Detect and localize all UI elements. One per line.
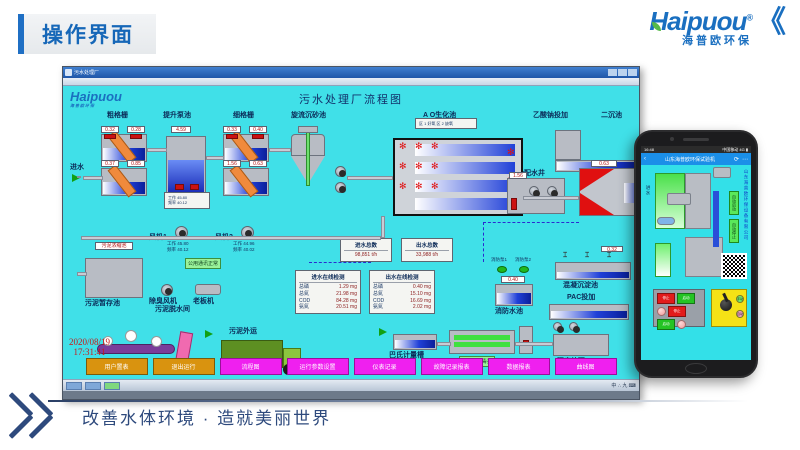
pipe-uv-deep	[515, 342, 553, 346]
phone-start-button-2[interactable]: 启动	[657, 319, 675, 330]
page-title: 操作界面	[42, 19, 134, 49]
uv-channel[interactable]	[449, 330, 515, 354]
label-fire-pump-1: 消防泵1	[491, 258, 507, 263]
label-fire-pump-2: 消防泵2	[515, 258, 531, 263]
dashed-signal-1	[483, 222, 579, 223]
minimize-icon[interactable]	[608, 69, 617, 76]
phone-pump-unit-3[interactable]	[657, 217, 675, 225]
fine-value-2: 0.40	[249, 126, 267, 133]
label-fine-screen: 细格栅	[233, 112, 254, 120]
outlet-row-3-name: 氨氮	[373, 304, 383, 311]
label-press-machine: 老板机	[193, 298, 214, 306]
label-coagulation: 混凝沉淀池	[563, 282, 598, 290]
label-sludge-storage: 污泥暂存池	[85, 300, 120, 308]
window-titlebar[interactable]: 污水处理厂	[63, 67, 639, 78]
phone-company-vertical-text: 山东海普欧环保设备有限公司	[743, 169, 749, 241]
ao-zone-panel: 区 1 好氧 区 2 缺氧	[415, 118, 477, 129]
label-lift-pump: 提升泵池	[163, 112, 191, 120]
button-curve-chart[interactable]: 曲线图	[555, 358, 617, 375]
fine-alarm-1	[226, 134, 238, 139]
label-secondary-clarifier: 二沉池	[601, 112, 622, 120]
sludge-thickener-value: 污泥浓缩池	[95, 242, 133, 250]
maximize-icon[interactable]	[618, 69, 627, 76]
distribution-pump-2[interactable]	[547, 186, 557, 196]
outlet-row-3-value: 2.02 mg	[413, 304, 431, 311]
label-influent: 进水	[70, 164, 84, 172]
fire-water-pool[interactable]	[495, 284, 533, 306]
inlet-row-3-name: 氨氮	[299, 304, 309, 311]
coarse-value-1: 0.32	[101, 126, 119, 133]
phone-indicator-lamp-1	[657, 307, 666, 316]
button-flow-diagram[interactable]: 流程图	[220, 358, 282, 375]
ao-agitator-2[interactable]: ✻	[415, 142, 423, 151]
label-dewater-room: 污泥脱水间	[155, 306, 190, 314]
blower-1-status-freq: 频率 40.12	[167, 248, 189, 253]
ao-agitator-6[interactable]: ✻	[431, 162, 439, 171]
label-fire-pool: 消防水池	[495, 308, 523, 316]
button-user-table[interactable]: 用户置表	[86, 358, 148, 375]
coarse-alarm-2	[130, 134, 142, 139]
grit-chamber-shaft	[306, 130, 310, 186]
label-deodor-fan: 除臭风机	[149, 298, 177, 306]
phone-hmi-canvas[interactable]: 自动启动 自动停止 山东海普欧环保设备有限公司 进水 停止 启动 停止 启动 手…	[641, 165, 751, 360]
pipe-well-clarifier	[523, 196, 579, 200]
scada-window[interactable]: 污水处理厂 Haipuou 海普欧环保 污水处理厂流程图 粗格栅 提升泵池 细格…	[62, 66, 640, 400]
inlet-row-0-value: 1.29 mg	[339, 284, 357, 291]
outlet-row-1-value: 15.10 mg	[410, 291, 431, 298]
inlet-flow-label: 进水总数	[344, 241, 388, 251]
dewater-machine[interactable]	[195, 284, 221, 295]
phone-status-time: 16:48	[644, 147, 654, 152]
phone-status-right: 中国移动 4G ▮	[722, 147, 748, 153]
phone-pump-unit-2[interactable]	[667, 193, 691, 205]
phone-screen[interactable]: 16:48 中国移动 4G ▮ ‹ 山东海普欧环保试验机 ⟳ ⋯ 自动启动 自动…	[641, 146, 751, 360]
phone-device: 16:48 中国移动 4G ▮ ‹ 山东海普欧环保试验机 ⟳ ⋯ 自动启动 自动…	[634, 130, 758, 378]
hmi-clock: 2020/08/19 17:31:41	[69, 338, 110, 357]
inlet-monitor-title: 进水在线检测	[299, 273, 357, 283]
label-pac-dosing: PAC投加	[567, 294, 595, 302]
hmi-canvas[interactable]: Haipuou 海普欧环保 污水处理厂流程图 粗格栅 提升泵池 细格栅 旋流沉砂…	[63, 86, 639, 379]
distribution-well-level: 1.56	[509, 172, 527, 179]
phone-home-button[interactable]	[685, 363, 707, 374]
brand-logo: Haipuou® 海普欧环保 《	[649, 8, 786, 47]
phone-navbar[interactable]: ‹ 山东海普欧环保试验机 ⟳ ⋯	[641, 153, 751, 165]
coarse-value-4: 0.85	[127, 160, 145, 167]
phone-camera-icon	[670, 137, 674, 141]
outlet-monitor-title: 出水在线检测	[373, 273, 431, 283]
clarifier-value: 0.63	[591, 160, 617, 167]
button-run-params[interactable]: 运行参数设置	[287, 358, 349, 375]
ao-agitator-8[interactable]: ✻	[415, 182, 423, 191]
fine-alarm-2	[252, 134, 264, 139]
label-sodium-acetate: 乙酸钠投加	[533, 112, 568, 120]
phone-statusbar: 16:48 中国移动 4G ▮	[641, 146, 751, 153]
inlet-flow-value: 98,851 t/h	[355, 252, 377, 259]
refresh-icon[interactable]: ⟳	[734, 156, 739, 163]
pipe-influent	[83, 176, 103, 180]
window-toolbar[interactable]	[63, 78, 639, 86]
outlet-row-2-value: 16.69 mg	[410, 298, 431, 305]
footer-tagline: 改善水体环境 · 造就美丽世界	[82, 404, 331, 429]
inlet-row-1-value: 21.98 mg	[336, 291, 357, 298]
phone-stop-button-1[interactable]: 停止	[657, 293, 675, 304]
phone-auto-stop-button[interactable]: 自动停止	[729, 219, 739, 243]
registered-mark: ®	[746, 12, 752, 22]
lift-pump-1[interactable]	[175, 184, 184, 190]
conveyor-roller-2	[125, 330, 137, 342]
phone-tank-effluent[interactable]	[655, 243, 671, 277]
inlet-monitor-panel: 进水在线检测 总磷1.29 mg 总氮21.98 mg COD84.28 mg …	[295, 270, 361, 314]
coarse-value-3: 0.37	[101, 160, 119, 167]
ao-agitator-1[interactable]: ✻	[399, 142, 407, 151]
brand-chinese: 海普欧环保	[649, 36, 752, 47]
pipe-grit-ao	[347, 176, 393, 180]
selector-knob-icon[interactable]	[720, 299, 732, 311]
secondary-clarifier[interactable]	[579, 168, 639, 216]
tray-text: 中 ∴ 九 ⌨	[611, 382, 636, 389]
lift-pump-status-panel: 工作 45.80 频率 40.12	[164, 192, 210, 209]
blower-2-status-freq: 频率 40.02	[233, 248, 255, 253]
brand-wordmark: Haipuou®	[649, 8, 752, 34]
grit-motor	[298, 126, 318, 133]
fine-value-1: 0.33	[223, 126, 241, 133]
coarse-value-2: 0.28	[127, 126, 145, 133]
phone-stop-button-2[interactable]: 停止	[668, 306, 686, 317]
outlet-flow-value: 33,988 t/h	[416, 252, 438, 259]
fine-value-3: 1.56	[223, 160, 241, 167]
pipe-ao-down	[381, 216, 385, 238]
outlet-row-0-name: 总磷	[373, 284, 383, 291]
pipe-sludge-in	[77, 272, 87, 276]
pipe-fine-grit	[269, 148, 291, 152]
label-coarse-screen: 粗格栅	[107, 112, 128, 120]
phone-pump-unit-1[interactable]	[713, 167, 731, 178]
lift-pump-pit[interactable]	[166, 136, 206, 198]
title-box: 操作界面	[24, 14, 156, 54]
ao-agitator-7[interactable]: ✻	[399, 182, 407, 191]
label-sludge-haul: 污泥外运	[229, 328, 257, 336]
slide-title: 操作界面	[18, 14, 156, 54]
clock-time: 17:31:41	[69, 348, 110, 357]
coagulation-tank[interactable]	[555, 262, 631, 280]
phone-auto-start-button[interactable]: 自动启动	[729, 191, 739, 215]
ao-lane-4	[415, 198, 515, 210]
pump-row-b: 频率 40.12	[168, 200, 187, 205]
outlet-monitor-panel: 出水在线检测 总磷0.40 mg 总氮15.10 mg COD16.69 mg …	[369, 270, 435, 314]
hmi-button-bar[interactable]: 用户置表 退出运行 流程图 运行参数设置 仪表记录 故障记录报表 数据报表 曲线…	[63, 358, 639, 375]
pipe-lift-fine	[206, 156, 224, 160]
deodor-fan-icon[interactable]	[161, 284, 173, 296]
fire-pool-value: 0.40	[501, 276, 525, 283]
phone-control-panel[interactable]: 停止 启动 停止 启动	[653, 289, 705, 327]
phone-inlet-label: 进水	[645, 185, 651, 196]
outlet-flow-label: 出水总数	[405, 241, 449, 251]
window-statusbar[interactable]: 中 ∴ 九 ⌨	[63, 379, 639, 391]
fine-value-4: 0.63	[249, 160, 267, 167]
distribution-valve[interactable]	[511, 198, 517, 210]
taskbar-item-2[interactable]	[85, 382, 101, 390]
inlet-flow-box: 进水总数 98,851 t/h	[340, 238, 392, 262]
menu-icon[interactable]: ⋯	[742, 156, 748, 163]
button-fault-report[interactable]: 故障记录报表	[421, 358, 483, 375]
pipe-coarse-lift	[147, 148, 167, 152]
parshall-flume[interactable]	[393, 334, 437, 350]
ao-agitator-3[interactable]: ✻	[431, 142, 439, 151]
inlet-row-1-name: 总氮	[299, 291, 309, 298]
phone-selector-panel[interactable]: 手动 自动	[711, 289, 747, 327]
phone-speaker	[683, 138, 709, 141]
ao-agitator-4[interactable]: ✻	[399, 162, 407, 171]
ao-lane-2	[415, 162, 515, 174]
phone-start-button-1[interactable]: 启动	[677, 293, 695, 304]
coag-mixer-1[interactable]: ⌶	[563, 252, 567, 259]
button-exit-run[interactable]: 退出运行	[153, 358, 215, 375]
taskbar-item-3[interactable]	[104, 382, 120, 390]
phone-nav-title: 山东海普欧环保试验机	[649, 156, 731, 163]
coag-mixer-2[interactable]: ⌶	[585, 252, 589, 259]
diagram-title: 污水处理厂流程图	[63, 91, 639, 107]
coag-value: 0.32	[601, 246, 623, 252]
window-controls[interactable]	[608, 69, 637, 76]
close-icon[interactable]	[628, 69, 637, 76]
lift-pump-level: 4.59	[171, 126, 191, 133]
ao-agitator-9[interactable]: ✻	[431, 182, 439, 191]
lift-pump-2[interactable]	[190, 184, 199, 190]
pac-pump-1[interactable]	[553, 322, 562, 331]
fire-pump-1-icon[interactable]	[497, 266, 507, 273]
pipe-riser-left	[77, 176, 81, 178]
chevron-icon: 《	[756, 10, 786, 36]
deep-treatment-unit[interactable]	[553, 334, 609, 356]
footer-chevron-icon	[0, 394, 78, 438]
ao-zone-text: 区 1 好氧 区 2 缺氧	[419, 121, 453, 126]
pac-pump-2[interactable]	[569, 322, 578, 331]
distribution-pump-1[interactable]	[529, 186, 539, 196]
outlet-row-0-value: 0.40 mg	[413, 284, 431, 291]
brand-name: Haipuou	[649, 6, 746, 36]
phone-column	[713, 191, 719, 247]
sludge-storage-tank[interactable]	[85, 258, 143, 298]
label-grit-chamber: 旋流沉砂池	[291, 112, 326, 120]
ao-agitator-5[interactable]: ✻	[415, 162, 423, 171]
inlet-row-0-name: 总磷	[299, 284, 309, 291]
outlet-flow-box: 出水总数 33,988 t/h	[401, 238, 453, 262]
conveyor-roller-3	[151, 336, 162, 347]
inlet-row-3-value: 20.51 mg	[336, 304, 357, 311]
button-data-report[interactable]: 数据报表	[488, 358, 550, 375]
phone-mode-manual-label: 手动	[736, 295, 744, 303]
taskbar-item-1[interactable]	[66, 382, 82, 390]
ao-lane-3	[415, 180, 515, 192]
button-meter-log[interactable]: 仪表记录	[354, 358, 416, 375]
flume-arrow-icon	[379, 328, 387, 336]
pac-dosing-tanks[interactable]	[549, 304, 629, 320]
phone-indicator-lamp-2	[677, 320, 686, 329]
sodium-acetate-tank[interactable]	[555, 130, 581, 160]
qr-code-icon[interactable]	[721, 253, 747, 279]
dashed-signal-3	[309, 262, 371, 263]
app-icon	[65, 69, 72, 76]
grit-pump-2[interactable]	[335, 182, 346, 193]
back-icon[interactable]: ‹	[644, 156, 646, 162]
outlet-row-1-name: 总氮	[373, 291, 383, 298]
coarse-alarm-1	[104, 134, 116, 139]
pipe-flume-uv	[437, 342, 451, 346]
dashed-signal-2	[483, 222, 484, 262]
comm-status-badge: 公用通讯正常	[185, 258, 221, 269]
ao-agitator-10[interactable]: ✻	[507, 148, 515, 157]
window-title: 污水处理厂	[74, 69, 99, 76]
fire-pump-2-icon[interactable]	[519, 266, 529, 273]
pipe-main-bus	[81, 236, 381, 240]
coag-mixer-3[interactable]: ⌶	[607, 252, 611, 259]
phone-mode-auto-label: 自动	[736, 310, 744, 318]
grit-pump-1[interactable]	[335, 166, 346, 177]
sludge-out-arrow-icon	[205, 330, 213, 338]
inlet-row-2-value: 84.28 mg	[336, 298, 357, 305]
footer: 改善水体环境 · 造就美丽世界	[0, 394, 800, 438]
